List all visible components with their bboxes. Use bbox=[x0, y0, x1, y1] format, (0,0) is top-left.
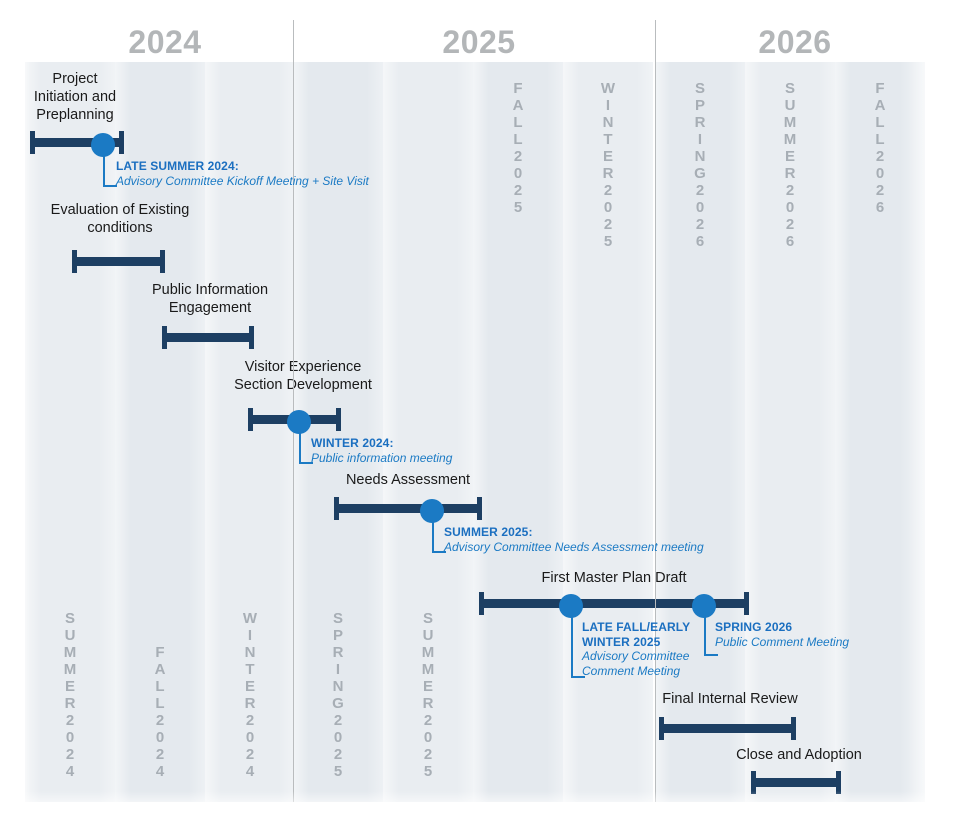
task-label: Final Internal Review bbox=[648, 690, 812, 708]
milestone-callout: WINTER 2024:Public information meeting bbox=[311, 436, 452, 465]
season-column-label: S P R I N G 2 0 2 5 bbox=[293, 610, 383, 780]
task-label: Close and Adoption bbox=[722, 746, 876, 764]
task-bar bbox=[334, 504, 482, 513]
season-column: F A L L 2 0 2 6 bbox=[835, 62, 925, 802]
milestone-title: WINTER 2024: bbox=[311, 436, 452, 451]
season-column-label: F A L L 2 0 2 6 bbox=[835, 80, 925, 216]
task-label: Project Initiation and Preplanning bbox=[22, 70, 128, 124]
milestone-callout: LATE FALL/EARLY WINTER 2025Advisory Comm… bbox=[582, 620, 690, 678]
milestone-detail: Advisory Committee Needs Assessment meet… bbox=[444, 540, 704, 555]
season-column-label: F A L L 2 0 2 5 bbox=[473, 80, 563, 216]
year-header: 2026 bbox=[750, 24, 840, 61]
task-bar bbox=[72, 257, 165, 266]
season-column-label: S P R I N G 2 0 2 6 bbox=[655, 80, 745, 250]
milestone-callout: SPRING 2026Public Comment Meeting bbox=[715, 620, 849, 649]
year-divider bbox=[655, 20, 656, 802]
milestone-detail: Public information meeting bbox=[311, 451, 452, 466]
task-bar bbox=[659, 724, 796, 733]
year-header: 2025 bbox=[434, 24, 524, 61]
milestone-title: LATE FALL/EARLY WINTER 2025 bbox=[582, 620, 690, 649]
milestone-callout: SUMMER 2025:Advisory Committee Needs Ass… bbox=[444, 525, 704, 554]
milestone-leader-line bbox=[103, 145, 117, 187]
milestone-title: SUMMER 2025: bbox=[444, 525, 704, 540]
task-label: Evaluation of Existing conditions bbox=[40, 201, 200, 237]
task-label: Visitor Experience Section Development bbox=[228, 358, 378, 394]
season-column: W I N T E R 2 0 2 5 bbox=[563, 62, 653, 802]
season-column-label: F A L L 2 0 2 4 bbox=[115, 644, 205, 780]
milestone-detail: Advisory Committee Comment Meeting bbox=[582, 649, 690, 678]
milestone-callout: LATE SUMMER 2024:Advisory Committee Kick… bbox=[116, 159, 369, 188]
season-column-label: S U M M E R 2 0 2 5 bbox=[383, 610, 473, 780]
milestone-title: SPRING 2026 bbox=[715, 620, 849, 635]
task-bar bbox=[751, 778, 841, 787]
milestone-title: LATE SUMMER 2024: bbox=[116, 159, 369, 174]
season-column-label: S U M M E R 2 0 2 4 bbox=[25, 610, 115, 780]
season-column-label: S U M M E R 2 0 2 6 bbox=[745, 80, 835, 250]
season-column: S U M M E R 2 0 2 4 bbox=[25, 62, 115, 802]
milestone-detail: Advisory Committee Kickoff Meeting + Sit… bbox=[116, 174, 369, 189]
season-column-label: W I N T E R 2 0 2 5 bbox=[563, 80, 653, 250]
task-bar bbox=[162, 333, 254, 342]
season-column-label: W I N T E R 2 0 2 4 bbox=[205, 610, 295, 780]
task-label: First Master Plan Draft bbox=[515, 569, 713, 587]
task-label: Public Information Engagement bbox=[140, 281, 280, 317]
project-timeline-chart: S U M M E R 2 0 2 4F A L L 2 0 2 4W I N … bbox=[0, 0, 960, 821]
milestone-detail: Public Comment Meeting bbox=[715, 635, 849, 650]
season-column: S U M M E R 2 0 2 5 bbox=[383, 62, 473, 802]
task-label: Needs Assessment bbox=[337, 471, 479, 489]
year-header: 2024 bbox=[120, 24, 210, 61]
season-column: F A L L 2 0 2 5 bbox=[473, 62, 563, 802]
